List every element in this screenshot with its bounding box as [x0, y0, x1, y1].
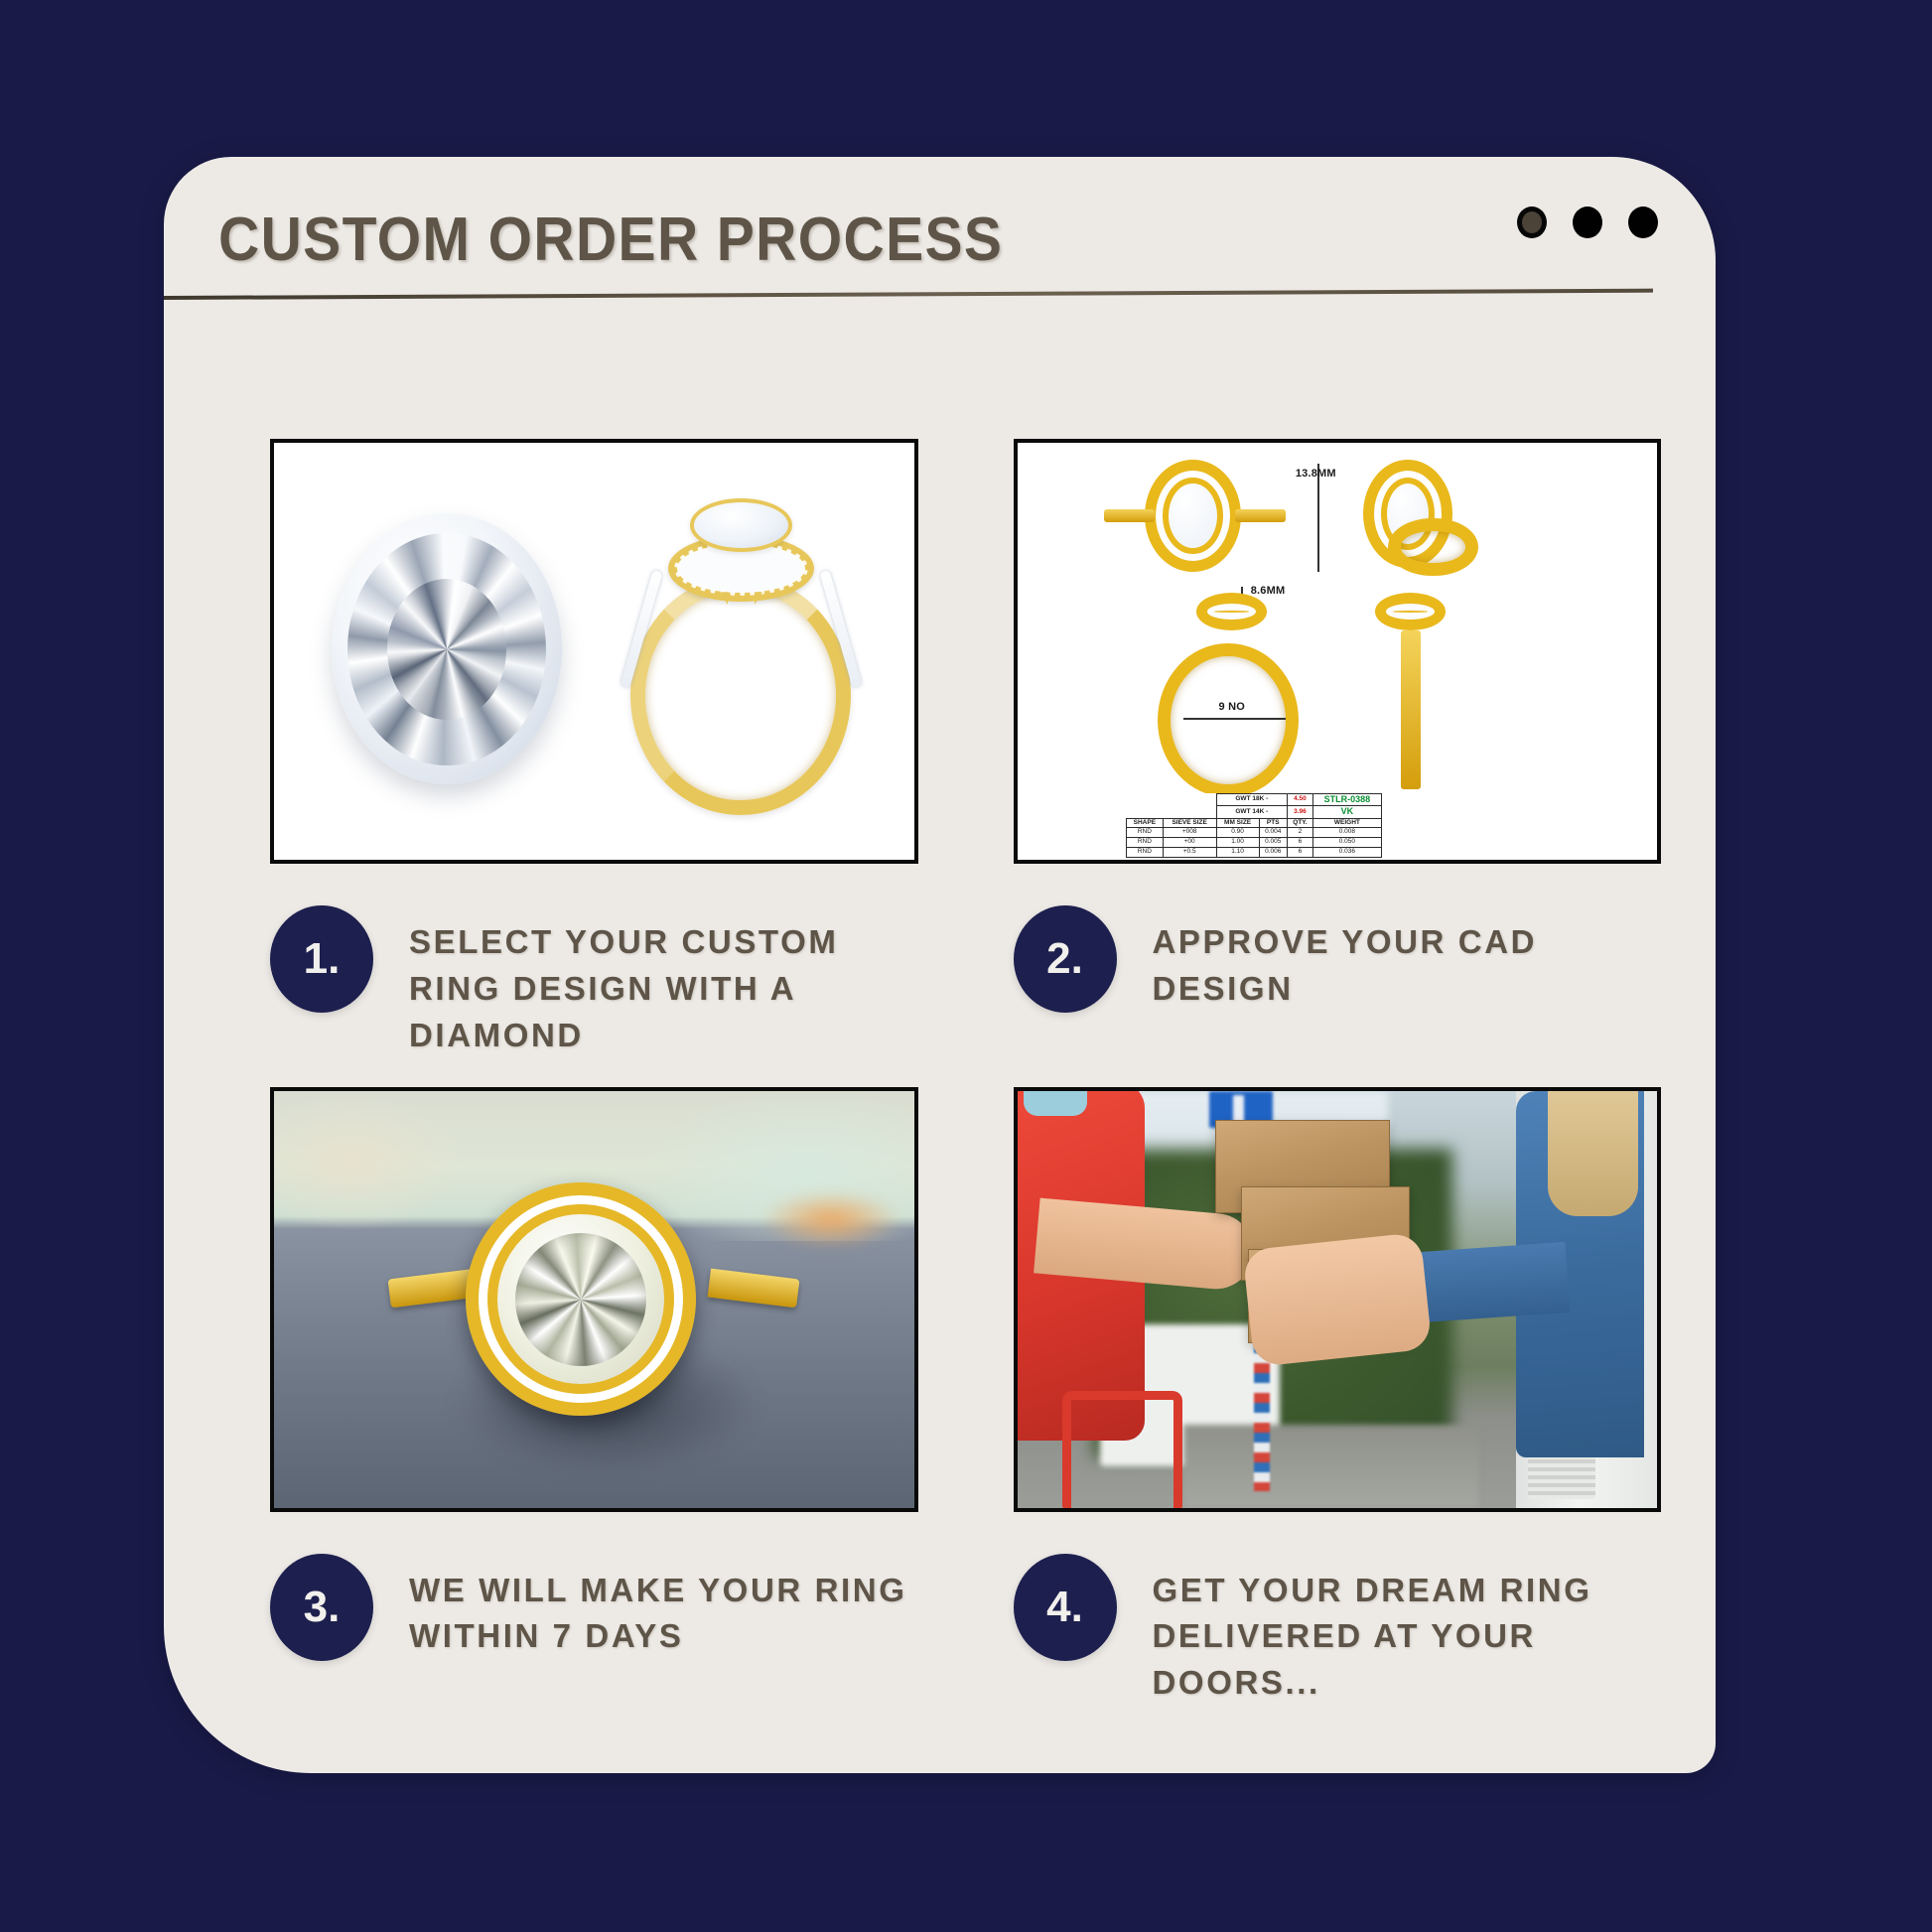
cad-spec-r2c5: 0.036 — [1312, 848, 1381, 858]
cad-spec-r2c1: +0.5 — [1163, 848, 1216, 858]
cad-spec-col-shape: SHAPE — [1127, 818, 1164, 828]
cad-spec-table: GWT 18K - 4.50 STLR-0388 GWT 14K - 3.96 … — [1126, 793, 1382, 858]
cad-spec-col-pts: PTS — [1259, 818, 1287, 828]
step-4-label: GET YOUR DREAM RING DELIVERED AT YOUR DO… — [1153, 1554, 1662, 1708]
cad-spec-style-code: STLR-0388 — [1312, 793, 1381, 805]
step-3-media-finished-ring-photo — [270, 1087, 918, 1512]
photo-ring-halo-head — [466, 1182, 696, 1416]
cad-front-top-shank-left — [1104, 509, 1156, 522]
customer-hair — [1548, 1091, 1637, 1216]
cad-spec-col-mm: MM SIZE — [1216, 818, 1259, 828]
process-card: CUSTOM ORDER PROCESS — [164, 157, 1716, 1773]
cad-spec-gwt14k-label: GWT 14K - — [1216, 806, 1287, 818]
step-1-caption: 1. SELECT YOUR CUSTOM RING DESIGN WITH A… — [270, 905, 918, 1059]
cad-spec-data-row: RND +008 0.90 0.004 2 0.008 — [1127, 828, 1382, 838]
cad-spec-r1c2: 1.00 — [1216, 838, 1259, 848]
cad-spec-r1c5: 0.050 — [1312, 838, 1381, 848]
cad-spec-col-weight: WEIGHT — [1312, 818, 1381, 828]
cad-spec-r0c3: 0.004 — [1259, 828, 1287, 838]
cad-dimline-ring-size — [1183, 718, 1286, 720]
step-4-caption: 4. GET YOUR DREAM RING DELIVERED AT YOUR… — [1014, 1554, 1662, 1708]
step-2-number-badge: 2. — [1014, 905, 1117, 1013]
hands-exchanging-parcel — [1242, 1232, 1433, 1367]
step-4-media-delivery-photo — [1014, 1087, 1662, 1512]
cad-spec-r0c0: RND — [1127, 828, 1164, 838]
window-dot-two-icon[interactable] — [1573, 207, 1602, 238]
photo-ring-band-right — [708, 1269, 800, 1309]
header-divider — [164, 289, 1653, 300]
gold-halo-ring-side-view — [607, 488, 876, 822]
cad-spec-r1c0: RND — [1127, 838, 1164, 848]
cad-spec-r0c2: 0.90 — [1216, 828, 1259, 838]
cad-view-side-halo — [1375, 593, 1446, 630]
cad-spec-row-gwt18k: GWT 18K - 4.50 STLR-0388 — [1127, 793, 1382, 805]
photo-bg-warm-left — [274, 1091, 466, 1233]
cad-spec-r2c4: 6 — [1287, 848, 1312, 858]
cad-spec-header-row: SHAPE SIEVE SIZE MM SIZE PTS QTY. WEIGHT — [1127, 818, 1382, 828]
cad-spec-r1c4: 6 — [1287, 838, 1312, 848]
cad-spec-blank-1 — [1127, 793, 1164, 805]
step-2-caption: 2. APPROVE YOUR CAD DESIGN — [1014, 905, 1662, 1013]
step-3-number-badge: 3. — [270, 1554, 373, 1661]
cad-spec-gwt14k-value: 3.96 — [1287, 806, 1312, 818]
photo-bg-orange-glow — [760, 1190, 901, 1249]
cad-perspective-band — [1388, 518, 1477, 577]
cad-spec-data-row: RND +0.5 1.10 0.006 6 0.036 — [1127, 848, 1382, 858]
cad-spec-r1c1: +00 — [1163, 838, 1216, 848]
step-cell-3: 3. WE WILL MAKE YOUR RING WITHIN 7 DAYS — [270, 1087, 918, 1708]
ring-center-stone — [690, 498, 792, 552]
step-3-label: WE WILL MAKE YOUR RING WITHIN 7 DAYS — [409, 1554, 918, 1661]
cad-label-stone-width: 8.6MM — [1251, 585, 1286, 597]
cad-spec-r2c3: 0.006 — [1259, 848, 1287, 858]
cad-spec-data-row: RND +00 1.00 0.005 6 0.050 — [1127, 838, 1382, 848]
cad-spec-row-gwt14k: GWT 14K - 3.96 VK — [1127, 806, 1382, 818]
step-3-caption: 3. WE WILL MAKE YOUR RING WITHIN 7 DAYS — [270, 1554, 918, 1661]
cad-spec-col-qty: QTY. — [1287, 818, 1312, 828]
delivery-hand-truck — [1062, 1391, 1182, 1508]
cad-spec-gwt18k-label: GWT 18K - — [1216, 793, 1287, 805]
cad-label-ring-size: 9 NO — [1219, 701, 1245, 713]
cad-spec-blank-2 — [1163, 793, 1216, 805]
step-4-number-badge: 4. — [1014, 1554, 1117, 1661]
cad-sheet: 13.8MM 8.6MM 9 NO — [1018, 443, 1658, 860]
cad-spec-r2c0: RND — [1127, 848, 1164, 858]
page-title: CUSTOM ORDER PROCESS — [218, 205, 1003, 275]
cad-spec-r0c1: +008 — [1163, 828, 1216, 838]
cad-view-profile-band — [1158, 643, 1299, 797]
cad-spec-col-sieve: SIEVE SIZE — [1163, 818, 1216, 828]
cad-side-shank — [1401, 630, 1420, 789]
step-1-number-badge: 1. — [270, 905, 373, 1013]
round-brilliant-diamond-icon — [332, 513, 562, 784]
step-cell-1: 1. SELECT YOUR CUSTOM RING DESIGN WITH A… — [270, 439, 918, 1059]
cad-view-profile-halo — [1196, 593, 1267, 630]
step-2-media-cad-drawing: 13.8MM 8.6MM 9 NO — [1014, 439, 1662, 864]
cad-spec-blank-3 — [1127, 806, 1164, 818]
cad-front-top-pave — [1156, 471, 1230, 561]
window-dot-active-icon[interactable] — [1517, 207, 1547, 238]
cad-dimline-head-width — [1317, 464, 1319, 572]
delivery-handoff-photo — [1018, 1091, 1658, 1508]
card-header: CUSTOM ORDER PROCESS — [164, 157, 1716, 345]
window-dots — [1517, 207, 1658, 238]
courier-face-mask-icon — [1024, 1091, 1087, 1116]
cad-spec-r2c2: 1.10 — [1216, 848, 1259, 858]
cad-label-head-width: 13.8MM — [1296, 468, 1336, 480]
cad-view-front-top — [1145, 460, 1241, 572]
diamond-ring-illustration — [274, 443, 914, 860]
delivery-road — [1183, 1425, 1477, 1508]
cad-spec-blank-4 — [1163, 806, 1216, 818]
step-1-media-diamond-and-ring — [270, 439, 918, 864]
cad-spec-r0c4: 2 — [1287, 828, 1312, 838]
finished-ring-photo — [274, 1091, 914, 1508]
step-2-label: APPROVE YOUR CAD DESIGN — [1153, 905, 1662, 1013]
step-cell-2: 13.8MM 8.6MM 9 NO — [1014, 439, 1662, 1059]
step-1-label: SELECT YOUR CUSTOM RING DESIGN WITH A DI… — [409, 905, 918, 1059]
steps-grid: 1. SELECT YOUR CUSTOM RING DESIGN WITH A… — [164, 345, 1716, 1707]
cad-spec-initials: VK — [1312, 806, 1381, 818]
cad-spec-r1c3: 0.005 — [1259, 838, 1287, 848]
cad-spec-gwt18k-value: 4.50 — [1287, 793, 1312, 805]
step-cell-4: 4. GET YOUR DREAM RING DELIVERED AT YOUR… — [1014, 1087, 1662, 1708]
window-dot-three-icon[interactable] — [1628, 207, 1658, 238]
cad-front-top-shank-right — [1235, 509, 1287, 522]
cad-spec-r0c5: 0.008 — [1312, 828, 1381, 838]
poster-canvas: CUSTOM ORDER PROCESS — [0, 0, 1932, 1932]
